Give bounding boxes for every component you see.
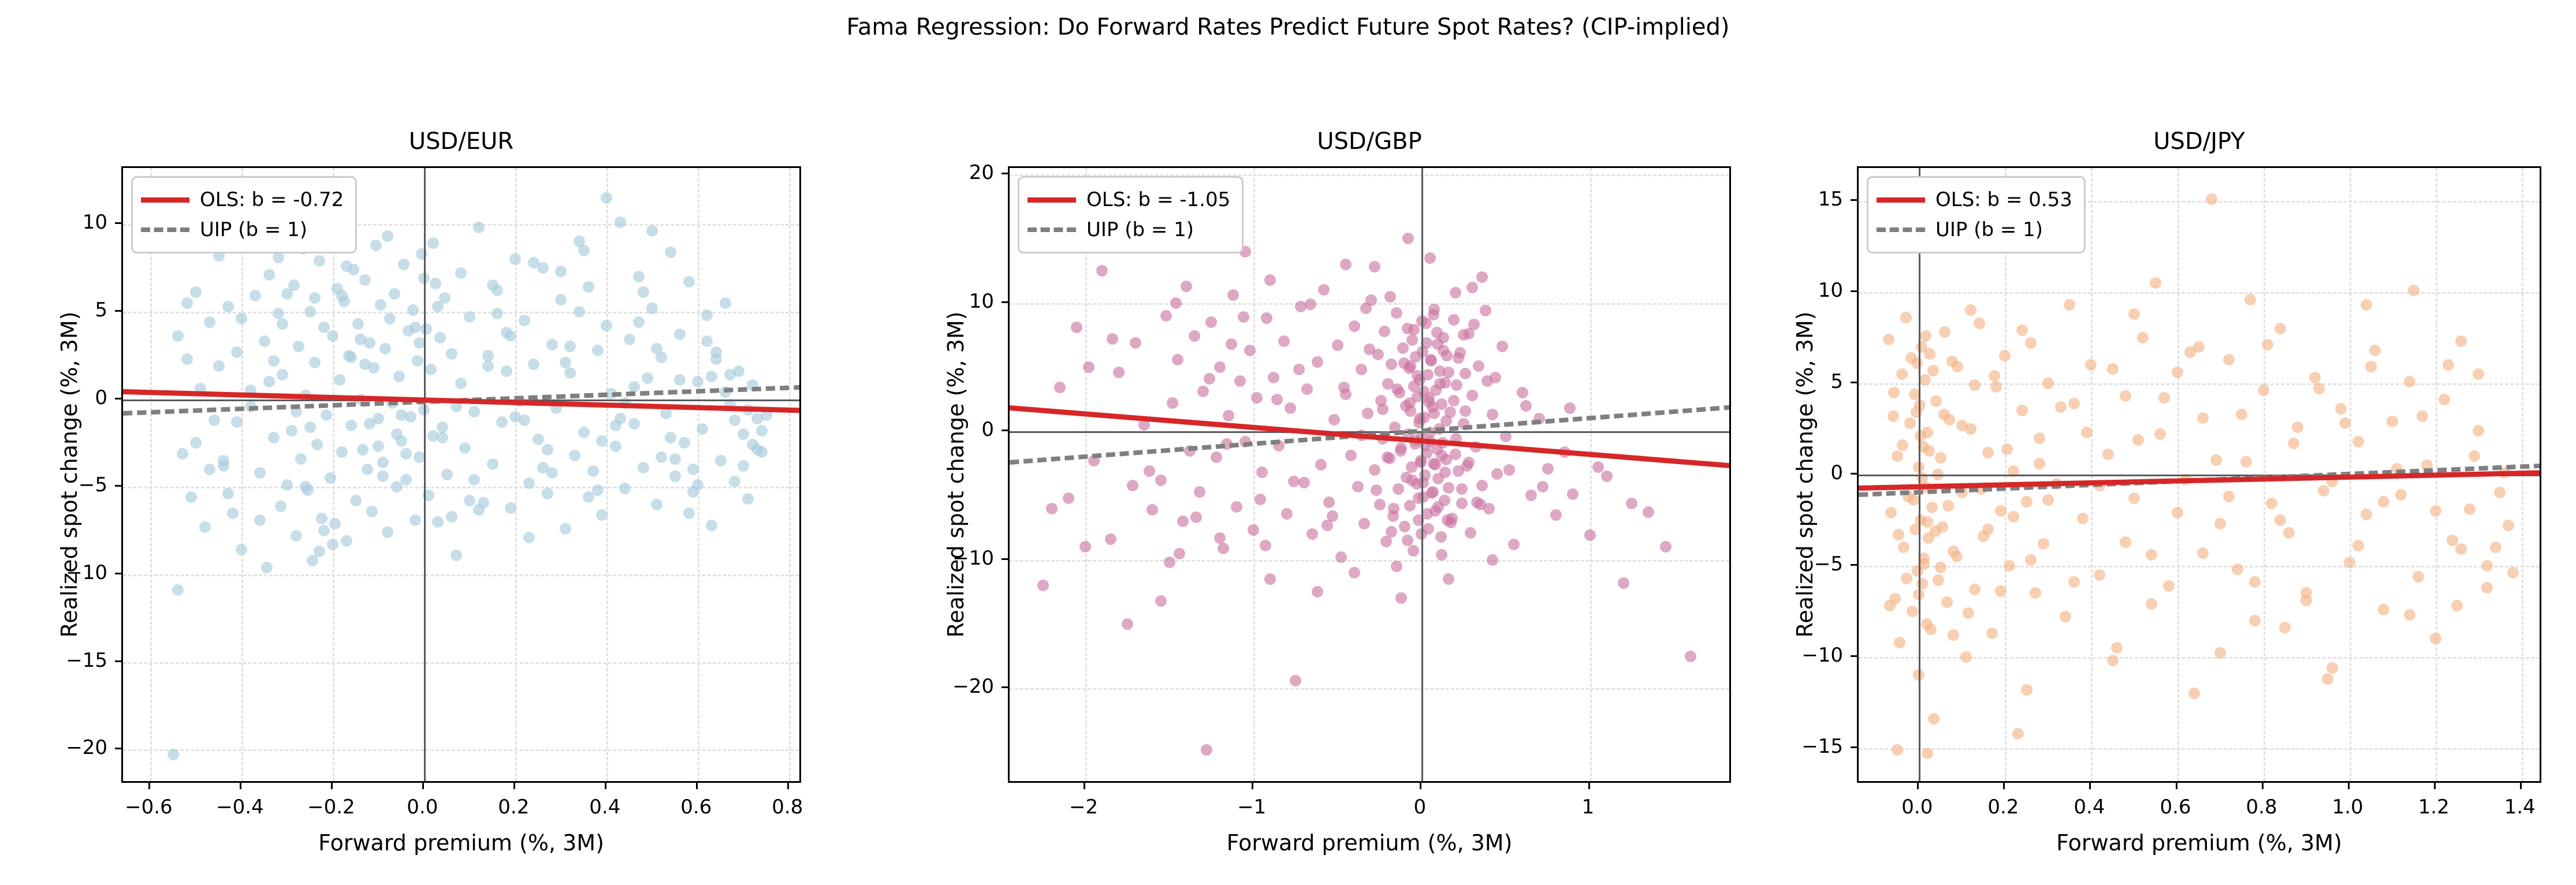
scatter-point	[1431, 327, 1443, 338]
scatter-point	[357, 444, 368, 455]
scatter-point	[1397, 342, 1409, 354]
scatter-point	[1362, 408, 1373, 419]
scatter-point	[646, 225, 658, 237]
y-tick-mark	[1851, 564, 1857, 566]
scatter-point	[181, 353, 193, 365]
scatter-point	[329, 518, 341, 529]
scatter-point	[1405, 360, 1416, 372]
scatter-point	[1406, 334, 1418, 346]
scatter-point	[1364, 343, 1375, 355]
scatter-point	[1963, 607, 1974, 619]
gridline-horizontal	[123, 749, 799, 751]
scatter-point	[1618, 577, 1629, 589]
scatter-point	[2473, 368, 2484, 380]
scatter-point	[204, 464, 215, 475]
scatter-point	[1285, 402, 1296, 414]
scatter-point	[1261, 312, 1272, 324]
x-tick-label: 0.4	[2074, 796, 2105, 819]
scatter-point	[1930, 395, 1942, 407]
scatter-point	[362, 464, 373, 475]
scatter-point	[729, 415, 740, 426]
x-tick-label: 1.4	[2504, 796, 2536, 819]
x-tick-label: 0.2	[1987, 796, 2019, 819]
scatter-point	[505, 502, 516, 514]
scatter-point	[1456, 498, 1468, 509]
scatter-point	[384, 313, 396, 324]
scatter-point	[2188, 688, 2200, 699]
scatter-point	[410, 514, 421, 526]
scatter-point	[2430, 505, 2441, 517]
scatter-point	[2094, 569, 2105, 581]
scatter-point	[2004, 560, 2015, 572]
legend: OLS: b = 0.53UIP (b = 1)	[1867, 176, 2086, 253]
scatter-point	[263, 269, 275, 281]
scatter-point	[2150, 277, 2161, 289]
scatter-point	[1332, 339, 1343, 351]
scatter-point	[1144, 465, 1155, 477]
scatter-point	[389, 288, 400, 300]
scatter-point	[1371, 484, 1382, 496]
scatter-point	[560, 357, 571, 368]
scatter-point	[619, 483, 631, 494]
scatter-point	[1402, 535, 1413, 546]
scatter-point	[1122, 618, 1133, 630]
scatter-point	[2236, 409, 2247, 420]
scatter-point	[1995, 505, 2007, 517]
scatter-point	[1231, 501, 1242, 513]
scatter-point	[1164, 557, 1175, 568]
scatter-point	[1160, 310, 1172, 322]
scatter-point	[1517, 387, 1528, 398]
y-tick-mark	[1002, 686, 1008, 688]
scatter-point	[273, 308, 284, 319]
scatter-point	[674, 328, 686, 340]
scatter-point	[1107, 333, 1118, 345]
scatter-point	[1194, 486, 1205, 498]
y-tick-mark	[1851, 199, 1857, 201]
y-tick-mark	[1002, 301, 1008, 303]
scatter-point	[377, 470, 389, 482]
scatter-point	[1167, 397, 1178, 409]
scatter-point	[2344, 557, 2355, 568]
gridline-horizontal	[1010, 688, 1729, 690]
scatter-point	[1935, 562, 1946, 573]
scatter-point	[1951, 551, 1963, 562]
y-tick-label: 15	[1818, 188, 1843, 211]
scatter-point	[1415, 455, 1427, 466]
legend-label: UIP (b = 1)	[1935, 220, 2043, 240]
y-tick-label: −20	[952, 675, 994, 698]
x-tick-mark	[240, 783, 241, 789]
scatter-point	[2137, 332, 2149, 343]
scatter-point	[2413, 571, 2424, 582]
gridline-horizontal	[1859, 566, 2540, 567]
scatter-point	[334, 374, 345, 386]
scatter-point	[628, 418, 640, 430]
scatter-point	[1054, 382, 1066, 393]
scatter-point	[181, 297, 193, 309]
scatter-point	[250, 290, 261, 301]
scatter-point	[318, 525, 330, 536]
scatter-point	[325, 472, 336, 484]
scatter-point	[1408, 545, 1419, 557]
scatter-point	[482, 360, 494, 372]
scatter-point	[646, 303, 658, 314]
scatter-point	[2016, 324, 2028, 336]
scatter-point	[724, 369, 736, 380]
scatter-point	[1428, 309, 1439, 320]
scatter-point	[2430, 633, 2441, 644]
scatter-point	[633, 316, 645, 328]
x-tick-mark	[1420, 783, 1421, 789]
scatter-point	[1601, 470, 1613, 482]
scatter-point	[410, 322, 421, 333]
scatter-point	[1439, 466, 1451, 478]
scatter-point	[1919, 374, 1931, 386]
scatter-point	[1927, 365, 1939, 376]
scatter-point	[1926, 502, 1938, 513]
scatter-point	[1226, 338, 1237, 350]
scatter-point	[592, 345, 604, 356]
scatter-point	[1423, 392, 1435, 404]
scatter-point	[583, 281, 594, 293]
scatter-point	[473, 504, 485, 516]
scatter-point	[314, 546, 325, 557]
scatter-point	[1473, 360, 1484, 372]
scatter-point	[2068, 398, 2080, 409]
scatter-point	[729, 476, 740, 487]
scatter-point	[1386, 359, 1397, 370]
scatter-point	[669, 453, 681, 465]
scatter-point	[542, 444, 553, 455]
scatter-point	[1920, 330, 1931, 342]
scatter-point	[2395, 489, 2407, 501]
legend-swatch-ols	[1028, 197, 1076, 203]
scatter-point	[1384, 291, 1396, 303]
legend-item: OLS: b = -1.05	[1028, 185, 1230, 215]
y-axis-label: Realized spot change (%, 3M)	[943, 312, 969, 638]
legend-item: UIP (b = 1)	[141, 215, 344, 245]
scatter-point	[2146, 598, 2157, 610]
scatter-point	[1402, 233, 1414, 244]
scatter-point	[710, 346, 722, 358]
scatter-point	[446, 511, 457, 522]
scatter-point	[2042, 494, 2054, 506]
y-tick-label: 0	[1830, 461, 1843, 484]
gridline-horizontal	[1859, 748, 2540, 750]
scatter-point	[1424, 252, 1436, 264]
scatter-point	[1436, 450, 1447, 461]
scatter-point	[574, 306, 585, 318]
scatter-point	[669, 470, 681, 482]
scatter-point	[261, 562, 273, 573]
scatter-point	[275, 501, 286, 512]
scatter-point	[2439, 394, 2450, 405]
y-tick-mark	[115, 485, 121, 487]
scatter-point	[1211, 451, 1222, 463]
scatter-point	[2378, 496, 2389, 507]
scatter-point	[263, 376, 275, 387]
scatter-point	[345, 352, 357, 363]
scatter-point	[1584, 529, 1596, 541]
scatter-point	[683, 507, 695, 519]
scatter-point	[528, 359, 539, 370]
scatter-point	[1463, 457, 1475, 468]
x-axis-label: Forward premium (%, 3M)	[121, 830, 801, 856]
x-tick-label: 1	[1582, 796, 1595, 819]
scatter-point	[281, 479, 293, 491]
scatter-point	[2244, 294, 2256, 305]
scatter-point	[1916, 578, 1928, 589]
scatter-point	[1550, 509, 1562, 521]
scatter-point	[190, 437, 202, 449]
scatter-point	[1079, 541, 1091, 552]
scatter-point	[311, 439, 323, 450]
scatter-point	[2206, 193, 2217, 205]
scatter-point	[222, 301, 234, 312]
x-axis-label: Forward premium (%, 3M)	[1857, 830, 2541, 856]
scatter-point	[1883, 334, 1894, 345]
scatter-point	[309, 292, 321, 304]
gridline-vertical	[606, 168, 608, 781]
legend-label: UIP (b = 1)	[200, 220, 307, 240]
scatter-point	[190, 286, 202, 298]
scatter-point	[341, 260, 352, 272]
scatter-point	[2064, 299, 2075, 311]
scatter-point	[2490, 542, 2501, 553]
subplot-title: USD/EUR	[121, 128, 801, 155]
scatter-point	[2283, 527, 2295, 539]
scatter-point	[1379, 326, 1390, 337]
y-tick-label: 0	[981, 418, 994, 441]
scatter-point	[1900, 312, 1912, 323]
x-tick-label: 0.0	[1901, 796, 1933, 819]
scatter-point	[1271, 394, 1283, 405]
scatter-point	[396, 409, 407, 421]
scatter-point	[2481, 560, 2493, 572]
scatter-point	[1999, 350, 2011, 361]
scatter-point	[1905, 352, 1917, 364]
x-tick-label: −0.2	[307, 796, 355, 819]
subplot-title: USD/GBP	[1008, 128, 1731, 155]
scatter-point	[1281, 508, 1293, 520]
scatter-point	[375, 299, 386, 311]
y-tick-mark	[1002, 430, 1008, 431]
gridline-horizontal	[1859, 292, 2540, 294]
scatter-point	[1896, 368, 1908, 380]
scatter-point	[738, 428, 749, 440]
scatter-point	[1956, 420, 1968, 431]
scatter-point	[2016, 405, 2028, 416]
scatter-point	[1172, 354, 1183, 365]
scatter-point	[1358, 518, 1370, 529]
scatter-point	[441, 469, 453, 480]
scatter-point	[316, 513, 327, 524]
legend-label: OLS: b = -0.72	[200, 190, 344, 210]
scatter-point	[2223, 491, 2235, 502]
scatter-point	[222, 488, 234, 499]
y-tick-mark	[1002, 173, 1008, 174]
scatter-point	[318, 322, 330, 333]
scatter-point	[1935, 452, 1946, 464]
scatter-point	[1941, 596, 1953, 608]
scatter-point	[537, 462, 549, 473]
scatter-point	[564, 367, 576, 379]
scatter-point	[1380, 536, 1392, 547]
scatter-point	[2473, 425, 2484, 436]
scatter-point	[227, 507, 239, 519]
scatter-point	[1942, 500, 1954, 511]
scatter-point	[1643, 506, 1654, 518]
scatter-point	[1497, 341, 1508, 352]
x-tick-label: 1.2	[2418, 796, 2450, 819]
scatter-point	[2335, 403, 2347, 415]
scatter-point	[1466, 390, 1478, 401]
scatter-point	[2042, 378, 2054, 389]
scatter-point	[382, 526, 393, 538]
y-tick-label: 10	[1818, 279, 1843, 302]
scatter-point	[1898, 542, 1909, 553]
scatter-point	[473, 222, 485, 233]
scatter-point	[185, 491, 197, 503]
figure-root: Fama Regression: Do Forward Rates Predic…	[0, 0, 2576, 885]
y-tick-label: −5	[79, 473, 107, 496]
scatter-point	[564, 341, 576, 352]
gridline-vertical	[150, 168, 152, 781]
scatter-point	[1450, 287, 1461, 298]
scatter-point	[1146, 504, 1158, 516]
scatter-point	[1197, 386, 1209, 397]
scatter-point	[391, 428, 403, 440]
scatter-point	[2085, 359, 2097, 371]
scatter-point	[1965, 304, 1976, 316]
scatter-point	[2481, 582, 2493, 593]
scatter-point	[2232, 563, 2243, 575]
y-tick-label: −15	[1801, 735, 1843, 758]
scatter-point	[1290, 675, 1301, 686]
scatter-point	[492, 308, 503, 319]
scatter-point	[398, 259, 410, 270]
x-axis-label: Forward premium (%, 3M)	[1008, 830, 1731, 856]
scatter-point	[1349, 567, 1360, 578]
scatter-point	[254, 467, 266, 479]
scatter-point	[1214, 532, 1226, 544]
x-tick-label: −1	[1237, 796, 1266, 819]
scatter-point	[1382, 451, 1393, 463]
scatter-point	[1422, 369, 1434, 380]
x-tick-mark	[1252, 783, 1253, 789]
scatter-point	[430, 278, 441, 289]
scatter-point	[1435, 531, 1447, 543]
scatter-point	[2107, 363, 2119, 375]
scatter-point	[638, 462, 649, 473]
scatter-point	[437, 432, 448, 443]
x-tick-mark	[2262, 783, 2264, 789]
scatter-point	[2001, 443, 2013, 455]
scatter-point	[236, 544, 247, 555]
scatter-point	[1256, 466, 1268, 478]
scatter-point	[2025, 554, 2037, 566]
scatter-point	[286, 425, 297, 436]
scatter-point	[756, 425, 768, 436]
scatter-point	[434, 332, 446, 343]
scatter-point	[665, 247, 676, 258]
scatter-point	[1408, 324, 1420, 335]
scatter-point	[1476, 271, 1488, 283]
scatter-point	[1974, 318, 1985, 329]
x-tick-mark	[605, 783, 606, 789]
scatter-point	[2455, 543, 2467, 555]
x-tick-mark	[2089, 783, 2091, 789]
scatter-point	[1982, 447, 1994, 458]
scatter-point	[555, 266, 567, 277]
scatter-point	[1969, 584, 1981, 595]
y-tick-label: 20	[969, 161, 994, 184]
scatter-point	[2464, 503, 2476, 515]
scatter-point	[1393, 483, 1404, 495]
scatter-point	[359, 274, 371, 286]
scatter-point	[1897, 439, 1908, 451]
scatter-point	[692, 479, 703, 491]
y-tick-label: 0	[95, 386, 107, 409]
scatter-point	[370, 240, 382, 251]
x-tick-label: −2	[1069, 796, 1098, 819]
scatter-point	[1443, 367, 1454, 378]
scatter-point	[1063, 492, 1074, 504]
scatter-point	[199, 521, 211, 533]
scatter-point	[213, 360, 225, 372]
y-tick-label: −20	[66, 736, 107, 759]
scatter-point	[1306, 528, 1318, 540]
scatter-point	[2275, 323, 2286, 334]
scatter-point	[2469, 450, 2480, 462]
legend-label: OLS: b = 0.53	[1935, 190, 2072, 210]
scatter-point	[2030, 587, 2041, 599]
gridline-horizontal	[123, 662, 799, 664]
x-tick-mark	[422, 783, 424, 789]
scatter-point	[523, 532, 535, 543]
scatter-point	[1335, 551, 1347, 563]
scatter-point	[1685, 651, 1696, 662]
scatter-point	[1177, 516, 1189, 527]
scatter-point	[1305, 298, 1316, 310]
scatter-point	[2120, 536, 2131, 548]
x-tick-label: 0.6	[2160, 796, 2191, 819]
scatter-point	[1071, 322, 1082, 333]
scatter-point	[1388, 503, 1399, 514]
scatter-point	[2038, 538, 2049, 550]
scatter-point	[2197, 412, 2209, 424]
scatter-point	[1155, 595, 1167, 607]
scatter-point	[706, 520, 717, 531]
scatter-point	[2451, 600, 2463, 611]
subplot-usd-gbp: USD/GBPOLS: b = -1.05UIP (b = 1)−2−10120…	[1008, 166, 1731, 783]
legend-item: OLS: b = -0.72	[141, 185, 344, 215]
gridline-vertical	[698, 168, 699, 781]
scatter-point	[1205, 316, 1217, 328]
scatter-point	[446, 348, 457, 360]
scatter-point	[1298, 477, 1310, 488]
x-tick-label: 1.0	[2332, 796, 2363, 819]
scatter-point	[692, 376, 703, 387]
scatter-point	[1268, 372, 1279, 383]
scatter-point	[2163, 580, 2175, 592]
scatter-point	[674, 374, 686, 386]
scatter-point	[172, 330, 184, 342]
y-tick-mark	[1851, 290, 1857, 292]
scatter-point	[2258, 384, 2269, 396]
scatter-point	[268, 432, 280, 443]
